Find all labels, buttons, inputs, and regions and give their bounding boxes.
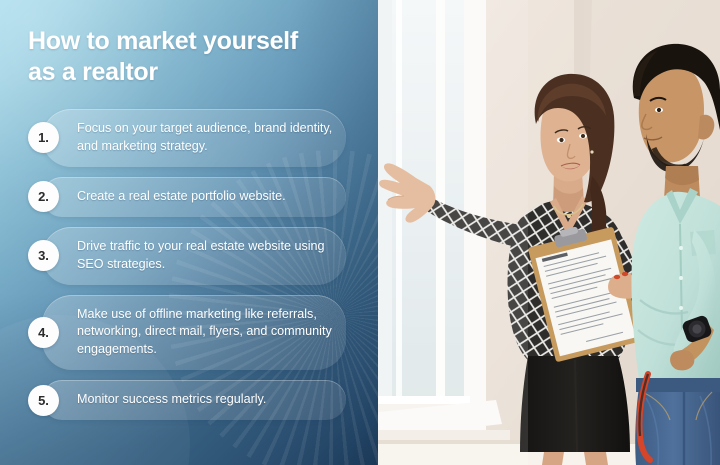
page-title-line-2: as a realtor (28, 58, 158, 86)
left-content-panel: How to market yourself as a realtor 1. F… (0, 0, 378, 465)
page-title-line-1: How to market yourself (28, 27, 298, 55)
man-hand (670, 350, 694, 370)
step-text: Focus on your target audience, brand ide… (77, 109, 338, 167)
infographic-root: How to market yourself as a realtor 1. F… (0, 0, 720, 465)
step-number-badge: 3. (28, 240, 59, 271)
panel-content: How to market yourself as a realtor 1. F… (0, 0, 378, 465)
list-item: 4. Make use of offline marketing like re… (28, 295, 360, 371)
step-text: Drive traffic to your real estate websit… (77, 227, 338, 285)
steps-list: 1. Focus on your target audience, brand … (28, 109, 360, 420)
list-item: 3. Drive traffic to your real estate web… (28, 227, 360, 285)
realtor-photo (378, 0, 720, 465)
realtor-photo-illustration (378, 0, 720, 465)
step-number-badge: 5. (28, 385, 59, 416)
list-item: 5. Monitor success metrics regularly. (28, 380, 360, 420)
list-item: 2. Create a real estate portfolio websit… (28, 177, 360, 217)
step-text: Make use of offline marketing like refer… (77, 295, 338, 371)
list-item: 1. Focus on your target audience, brand … (28, 109, 360, 167)
step-text: Create a real estate portfolio website. (77, 177, 286, 217)
step-number-badge: 4. (28, 317, 59, 348)
step-text: Monitor success metrics regularly. (77, 380, 266, 420)
woman-earring (590, 150, 593, 153)
page-title: How to market yourself as a realtor (28, 26, 358, 87)
